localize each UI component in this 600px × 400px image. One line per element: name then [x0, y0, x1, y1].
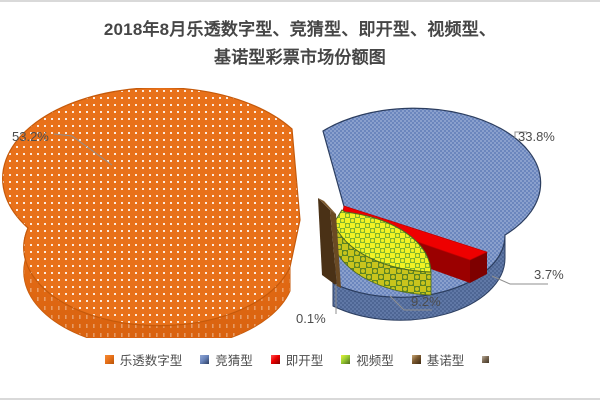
- legend-label-guess: 竞猜型: [215, 350, 253, 369]
- legend-item-video[interactable]: 视频型: [341, 350, 394, 369]
- legend-swatch-guess: [200, 355, 209, 364]
- legend-item-lottery[interactable]: 乐透数字型: [105, 350, 183, 369]
- legend-label-instant: 即开型: [286, 350, 324, 369]
- legend-label-lottery: 乐透数字型: [120, 350, 183, 369]
- legend-swatch-instant: [271, 355, 280, 364]
- chart-container: 2018年8月乐透数字型、竞猜型、即开型、视频型、 基诺型彩票市场份额图: [0, 0, 600, 400]
- data-label-lottery: 53.2%: [12, 129, 49, 144]
- pie-plot-area: [0, 88, 600, 338]
- data-label-video: 9.2%: [411, 294, 441, 309]
- chart-legend: 乐透数字型 竞猜型 即开型 视频型 基诺型: [0, 350, 600, 369]
- legend-item-guess[interactable]: 竞猜型: [200, 350, 253, 369]
- data-label-keno: 3.7%: [534, 267, 564, 282]
- pie-slice-lottery[interactable]: [3, 88, 300, 338]
- legend-label-video: 视频型: [356, 350, 394, 369]
- legend-swatch-lottery: [105, 355, 114, 364]
- legend-item-instant[interactable]: 即开型: [271, 350, 324, 369]
- pie-chart-graphic: [0, 88, 600, 338]
- legend-swatch-keno: [412, 355, 421, 364]
- legend-label-keno: 基诺型: [427, 350, 465, 369]
- legend-swatch-video: [341, 355, 350, 364]
- legend-item-extra[interactable]: [482, 356, 495, 363]
- data-label-guess: 33.8%: [518, 129, 555, 144]
- pie-slice-instant[interactable]: [318, 198, 341, 288]
- data-label-instant: 0.1%: [296, 311, 326, 326]
- legend-item-keno[interactable]: 基诺型: [412, 350, 465, 369]
- legend-swatch-extra: [482, 356, 489, 363]
- chart-title: 2018年8月乐透数字型、竞猜型、即开型、视频型、 基诺型彩票市场份额图: [0, 16, 600, 72]
